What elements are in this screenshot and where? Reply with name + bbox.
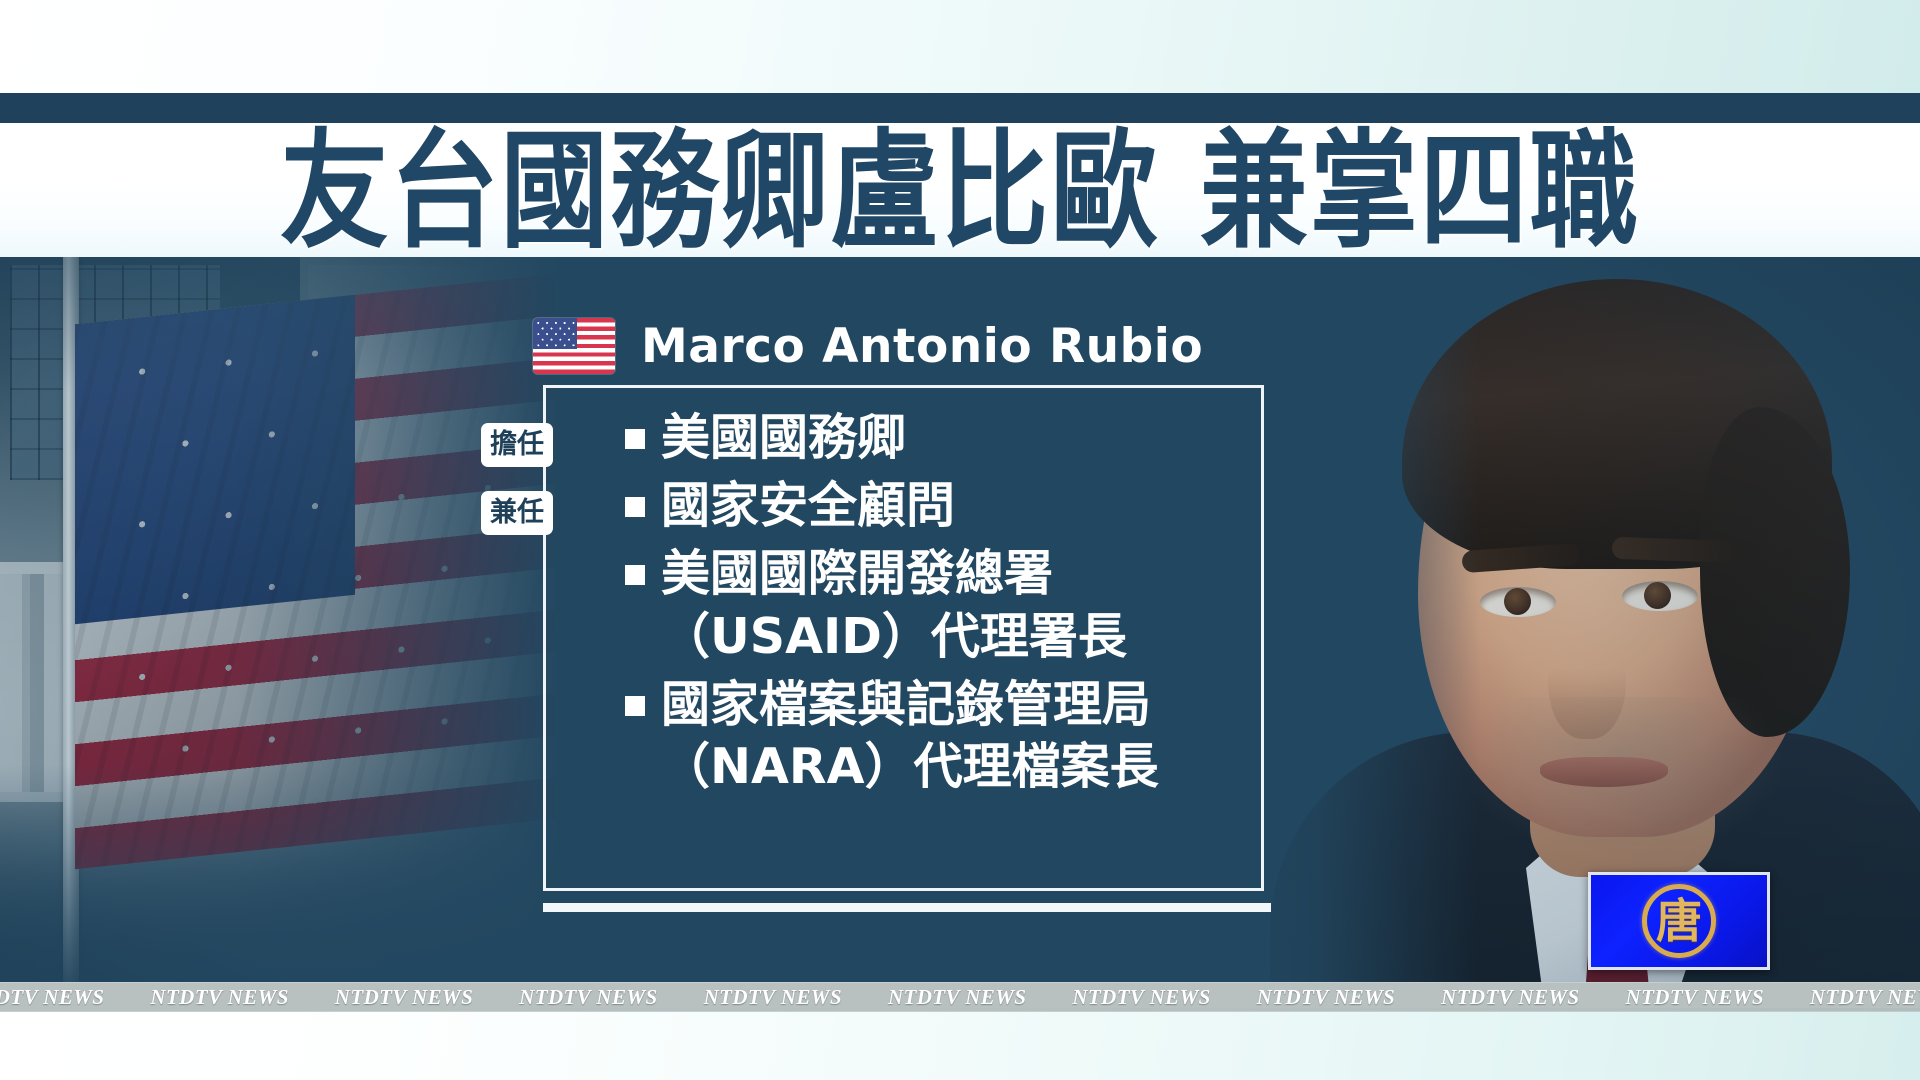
list-item: 擔任 美國國務卿 xyxy=(543,407,1273,469)
role-line-2: （USAID）代理署長 xyxy=(661,606,1127,668)
ticker-item: NTDTV NEWS xyxy=(150,985,288,1010)
subject-portrait-photo xyxy=(1230,257,1920,982)
flag-photo-fade-vertical xyxy=(0,257,560,982)
portrait-mouth xyxy=(1540,757,1668,787)
page-background-top xyxy=(0,0,1920,93)
list-item: 兼任 國家安全顧問 xyxy=(543,475,1273,537)
ticker-item: NTDTV NEWS xyxy=(888,985,1026,1010)
role-line-1: 國家安全顧問 xyxy=(661,475,955,537)
broadcast-graphic: 友台國務卿盧比歐 兼掌四職 xyxy=(0,0,1920,1080)
ticker-item: NTDTV NEWS xyxy=(335,985,473,1010)
subject-name: Marco Antonio Rubio xyxy=(641,319,1203,374)
roles-underline-bar xyxy=(543,903,1271,912)
role-line-1: 美國國務卿 xyxy=(661,407,906,469)
role-text: 美國國務卿 xyxy=(661,407,906,469)
role-line-1: 國家檔案與記錄管理局 xyxy=(661,674,1159,736)
flag-icon-stars xyxy=(533,318,577,349)
page-title: 友台國務卿盧比歐 兼掌四職 xyxy=(280,129,1640,256)
list-item: 國家檔案與記錄管理局 （NARA）代理檔案長 xyxy=(543,674,1273,798)
role-tag-concurrent: 兼任 xyxy=(481,491,553,535)
ticker-item: NTDTV NEWS xyxy=(519,985,657,1010)
role-line-2: （NARA）代理檔案長 xyxy=(661,736,1159,798)
square-bullet-icon xyxy=(625,429,645,449)
square-bullet-icon xyxy=(625,565,645,585)
ticker-track: NTDTV NEWSNTDTV NEWSNTDTV NEWSNTDTV NEWS… xyxy=(0,985,1920,1010)
news-ticker: NTDTV NEWSNTDTV NEWSNTDTV NEWSNTDTV NEWS… xyxy=(0,982,1920,1012)
ticker-item: NTDTV NEWS xyxy=(0,985,104,1010)
role-text: 國家安全顧問 xyxy=(661,475,955,537)
ntd-logo-character: 唐 xyxy=(1656,898,1702,944)
square-bullet-icon xyxy=(625,696,645,716)
top-navy-rule xyxy=(0,93,1920,123)
role-tag-primary: 擔任 xyxy=(481,423,553,467)
us-flag-photo xyxy=(0,257,560,982)
subject-name-row: Marco Antonio Rubio xyxy=(533,318,1203,374)
ticker-item: NTDTV NEWS xyxy=(1441,985,1579,1010)
portrait-eyebrow-right xyxy=(1612,537,1743,564)
portrait-iris-right xyxy=(1644,582,1671,609)
portrait-nose xyxy=(1548,609,1626,739)
ticker-item: NTDTV NEWS xyxy=(1626,985,1764,1010)
ticker-item: NTDTV NEWS xyxy=(1257,985,1395,1010)
role-text: 美國國際開發總署 （USAID）代理署長 xyxy=(661,543,1127,667)
ntd-logo-glyph-circle: 唐 xyxy=(1642,884,1716,958)
ticker-item: NTDTV NEWS xyxy=(1072,985,1210,1010)
ticker-item: NTDTV NEWS xyxy=(704,985,842,1010)
page-background-bottom xyxy=(0,1008,1920,1080)
list-item: 美國國際開發總署 （USAID）代理署長 xyxy=(543,543,1273,667)
role-line-1: 美國國際開發總署 xyxy=(661,543,1127,605)
portrait-iris-left xyxy=(1504,588,1531,615)
roles-list: 擔任 美國國務卿 兼任 國家安全顧問 美國國際開發總署 （USAID）代理署長 … xyxy=(543,385,1273,891)
us-flag-icon xyxy=(533,318,615,374)
ticker-item: NTDTV NEWS xyxy=(1810,985,1920,1010)
ntd-logo: 唐 xyxy=(1588,872,1770,970)
headline-band: 友台國務卿盧比歐 兼掌四職 xyxy=(0,123,1920,257)
square-bullet-icon xyxy=(625,497,645,517)
role-text: 國家檔案與記錄管理局 （NARA）代理檔案長 xyxy=(661,674,1159,798)
